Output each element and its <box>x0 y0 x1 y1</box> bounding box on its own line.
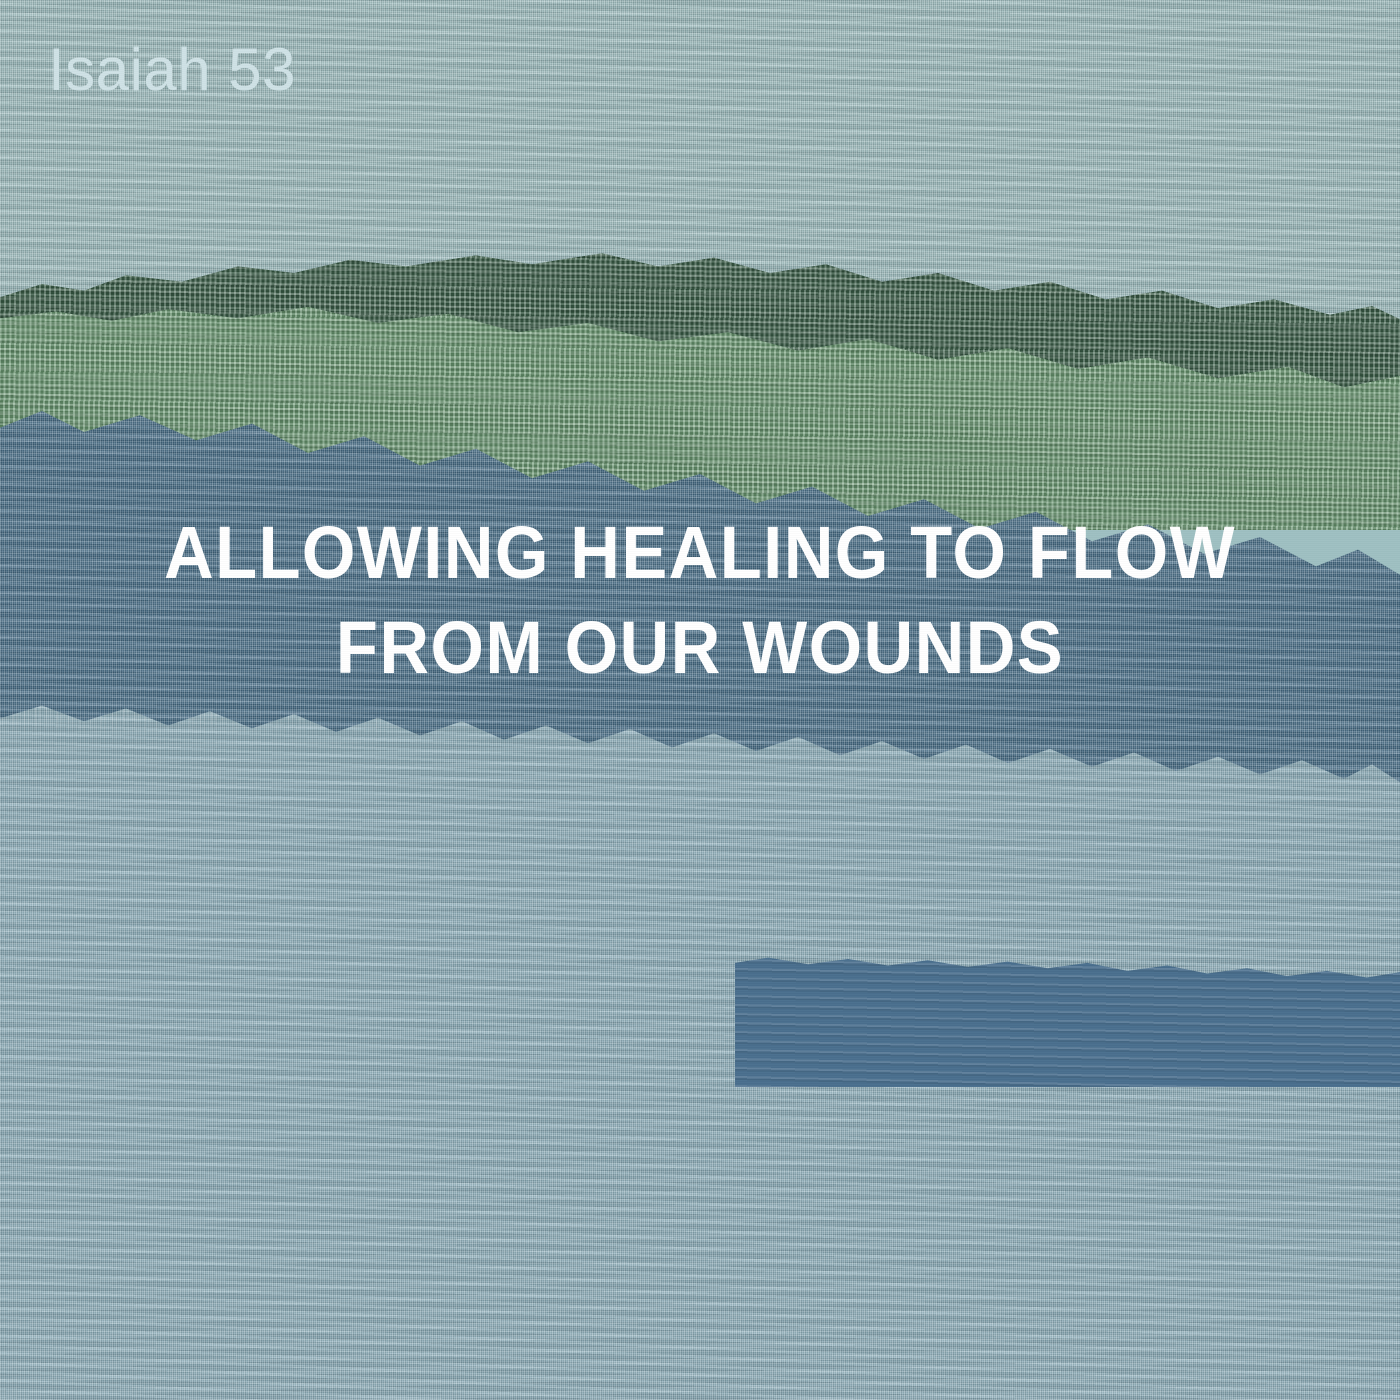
weave-texture-ripple <box>735 955 1400 1087</box>
title-line-1: ALLOWING HEALING TO FLOW <box>49 505 1351 600</box>
scripture-reference-plaque <box>735 955 1400 1087</box>
sermon-title: ALLOWING HEALING TO FLOW FROM OUR WOUNDS <box>0 505 1400 695</box>
scripture-reference-label: Isaiah 53 <box>48 30 296 110</box>
title-line-2: FROM OUR WOUNDS <box>49 600 1351 695</box>
sermon-title-artwork: ALLOWING HEALING TO FLOW FROM OUR WOUNDS… <box>0 0 1400 1400</box>
